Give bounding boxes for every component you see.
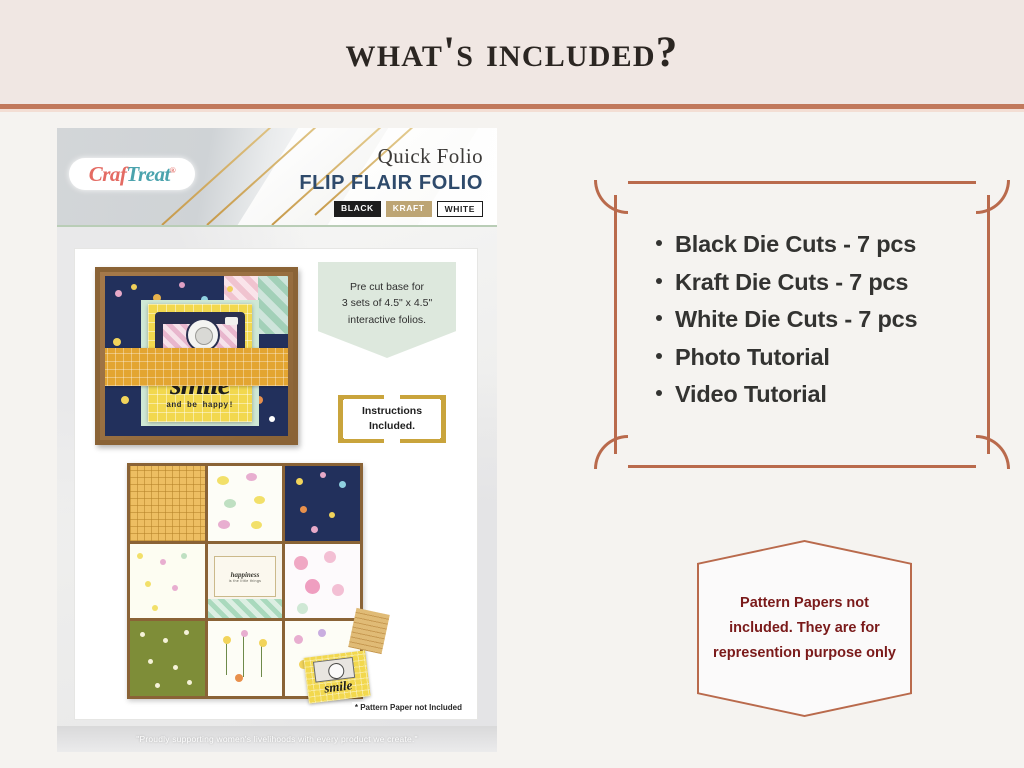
happiness-subtitle: is the little things bbox=[229, 579, 262, 583]
paper-tile bbox=[285, 544, 360, 619]
folio-card-photo: smile and be happy! bbox=[95, 267, 298, 445]
frame-right-border bbox=[987, 195, 990, 454]
paper-tile bbox=[130, 621, 205, 696]
brand-name-part1: Craf bbox=[89, 162, 127, 186]
daffodil bbox=[259, 639, 267, 647]
dot bbox=[173, 665, 178, 670]
dot bbox=[187, 680, 192, 685]
dot bbox=[140, 632, 145, 637]
paper-tile-with-mini-card: smile bbox=[285, 621, 360, 696]
instructions-text: Instructions Included. bbox=[344, 399, 440, 439]
list-item: Kraft Die Cuts - 7 pcs bbox=[656, 271, 917, 295]
frame-corner-top-left bbox=[594, 180, 628, 214]
floral-dot bbox=[296, 478, 303, 485]
folio-floral-paper: smile and be happy! bbox=[105, 276, 288, 436]
floral-dot bbox=[137, 553, 143, 559]
folio-plaid-strap bbox=[105, 348, 288, 386]
header-divider-soft bbox=[0, 109, 1024, 112]
floral-dot bbox=[181, 553, 187, 559]
list-item: White Die Cuts - 7 pcs bbox=[656, 308, 917, 332]
badge-black: BLACK bbox=[334, 201, 381, 217]
gold-bar-right bbox=[441, 395, 446, 443]
rose-bloom bbox=[294, 556, 308, 570]
dot bbox=[163, 638, 168, 643]
bullet-point-icon bbox=[656, 240, 662, 246]
butterfly bbox=[217, 476, 229, 485]
frame-top-border bbox=[628, 181, 976, 184]
precut-base-callout: Pre cut base for 3 sets of 4.5" x 4.5" i… bbox=[318, 262, 456, 358]
daffodil bbox=[235, 674, 243, 682]
list-item: Photo Tutorial bbox=[656, 346, 917, 370]
product-image: CrafTreat® Quick Folio FLIP FLAIR FOLIO … bbox=[57, 128, 497, 752]
floral-dot bbox=[160, 559, 166, 565]
brand-logo-text: CrafTreat® bbox=[89, 162, 176, 187]
bullet-point-icon bbox=[656, 315, 662, 321]
floral-dot bbox=[115, 290, 122, 297]
precut-base-text: Pre cut base for 3 sets of 4.5" x 4.5" i… bbox=[342, 279, 432, 328]
dot bbox=[184, 630, 189, 635]
camera-lens-icon bbox=[186, 318, 220, 352]
floral-dot bbox=[145, 581, 151, 587]
happiness-title: happiness bbox=[231, 571, 260, 579]
butterfly bbox=[218, 520, 230, 529]
paper-tile bbox=[208, 621, 283, 696]
pattern-papers-note: Pattern Papers not included. They are fo… bbox=[697, 540, 912, 717]
daffodil bbox=[223, 636, 231, 644]
bullet-point-icon bbox=[656, 353, 662, 359]
happiness-label: happiness is the little things bbox=[214, 556, 275, 598]
included-items-list: Black Die Cuts - 7 pcs Kraft Die Cuts - … bbox=[656, 233, 917, 421]
camera-flash-icon bbox=[225, 317, 238, 325]
stem bbox=[261, 644, 262, 677]
floral-dot bbox=[172, 585, 178, 591]
butterfly bbox=[251, 521, 262, 529]
product-banner: CrafTreat® Quick Folio FLIP FLAIR FOLIO … bbox=[57, 128, 497, 225]
floral-dot bbox=[329, 512, 335, 518]
list-item-label: White Die Cuts - 7 pcs bbox=[675, 308, 917, 332]
list-item: Video Tutorial bbox=[656, 383, 917, 407]
mini-kraft-flap bbox=[348, 608, 390, 654]
rose-bloom bbox=[297, 603, 308, 614]
frame-left-border bbox=[614, 195, 617, 454]
floral-dot bbox=[300, 506, 307, 513]
stem bbox=[226, 641, 227, 675]
mini-smile-card: smile bbox=[303, 650, 370, 703]
dot bbox=[155, 683, 160, 688]
list-item-label: Black Die Cuts - 7 pcs bbox=[675, 233, 916, 257]
badge-kraft: KRAFT bbox=[386, 201, 432, 217]
floral-dot bbox=[269, 416, 275, 422]
floral-dot bbox=[227, 286, 233, 292]
paper-tile bbox=[130, 466, 205, 541]
floral-dot bbox=[318, 629, 326, 637]
gold-bar-left bbox=[338, 395, 343, 443]
pattern-paper-disclaimer: * Pattern Paper not Included bbox=[352, 702, 465, 713]
floral-dot bbox=[320, 472, 326, 478]
floral-dot bbox=[121, 396, 129, 404]
page-header: What's Included? bbox=[0, 0, 1024, 104]
registered-mark-icon: ® bbox=[170, 166, 175, 175]
rose-bloom bbox=[332, 584, 344, 596]
instructions-callout: Instructions Included. bbox=[338, 395, 446, 443]
floral-dot bbox=[294, 635, 303, 644]
pattern-paper-grid: happiness is the little things bbox=[127, 463, 363, 699]
floral-dot bbox=[339, 481, 346, 488]
smile-subtitle: and be happy! bbox=[148, 401, 252, 410]
frame-corner-bottom-left bbox=[594, 435, 628, 469]
list-item-label: Kraft Die Cuts - 7 pcs bbox=[675, 271, 908, 295]
frame-bottom-border bbox=[628, 465, 976, 468]
paper-tile-center-label: happiness is the little things bbox=[208, 544, 283, 619]
floral-dot bbox=[179, 282, 185, 288]
paper-tile bbox=[285, 466, 360, 541]
floral-dot bbox=[113, 338, 121, 346]
dot bbox=[148, 659, 153, 664]
badge-white: WHITE bbox=[437, 201, 483, 217]
product-inner-panel: smile and be happy! Pre cut base for 3 s… bbox=[75, 249, 477, 719]
bullet-point-icon bbox=[656, 278, 662, 284]
rose-bloom bbox=[305, 579, 320, 594]
color-badges: BLACK KRAFT WHITE bbox=[334, 201, 483, 217]
product-series: Quick Folio bbox=[378, 144, 483, 169]
list-item: Black Die Cuts - 7 pcs bbox=[656, 233, 917, 257]
included-items-frame: Black Die Cuts - 7 pcs Kraft Die Cuts - … bbox=[614, 181, 990, 468]
frame-corner-top-right bbox=[976, 180, 1010, 214]
label-mint-strip bbox=[208, 599, 283, 618]
bullet-point-icon bbox=[656, 390, 662, 396]
product-footer-text: "Proudly supporting women's livelihoods … bbox=[136, 734, 418, 744]
list-item-label: Video Tutorial bbox=[675, 383, 827, 407]
brand-logo: CrafTreat® bbox=[69, 158, 195, 190]
hex-note-text: Pattern Papers not included. They are fo… bbox=[697, 540, 912, 717]
frame-corner-bottom-right bbox=[976, 435, 1010, 469]
product-body: smile and be happy! Pre cut base for 3 s… bbox=[57, 227, 497, 752]
product-model: FLIP FLAIR FOLIO bbox=[299, 172, 483, 195]
paper-tile bbox=[208, 466, 283, 541]
stem bbox=[243, 635, 244, 677]
brand-name-part2: Treat bbox=[126, 162, 169, 186]
daffodil bbox=[241, 630, 248, 637]
floral-dot bbox=[311, 526, 318, 533]
paper-tile bbox=[130, 544, 205, 619]
list-item-label: Photo Tutorial bbox=[675, 346, 830, 370]
butterfly bbox=[254, 496, 265, 504]
floral-dot bbox=[131, 284, 137, 290]
butterfly bbox=[224, 499, 236, 508]
butterfly bbox=[246, 473, 257, 481]
page-title: What's Included? bbox=[346, 28, 679, 77]
product-footer-strip: "Proudly supporting women's livelihoods … bbox=[57, 726, 497, 752]
rose-bloom bbox=[324, 551, 336, 563]
floral-dot bbox=[152, 605, 158, 611]
